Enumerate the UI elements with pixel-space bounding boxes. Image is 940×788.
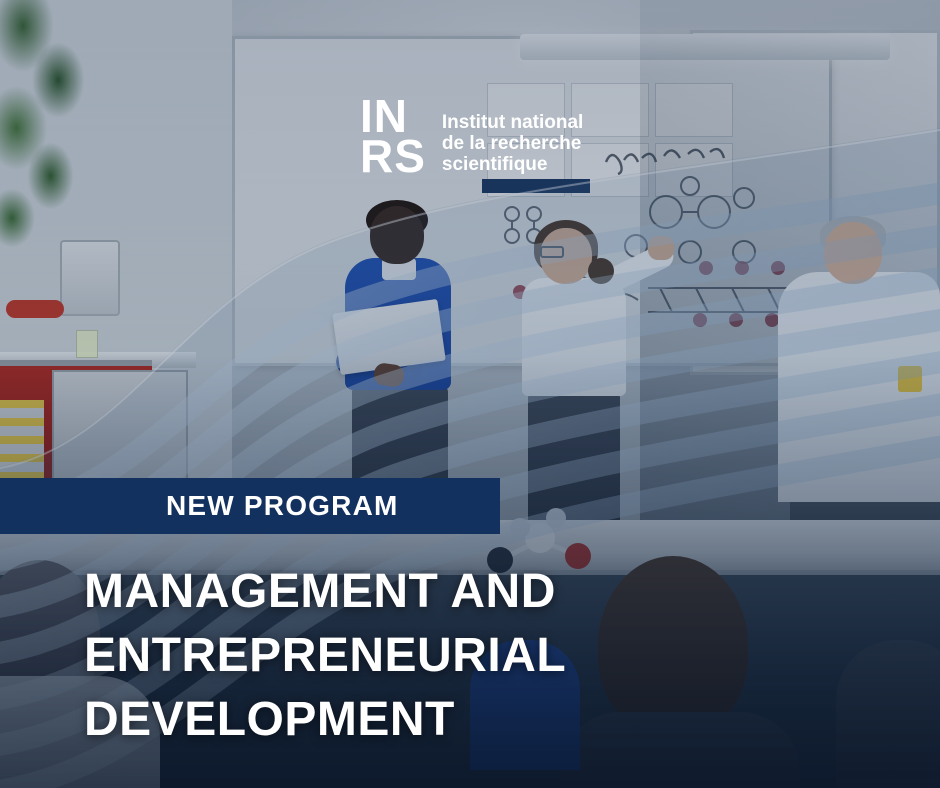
logo-wordmark-line3: scientifique [442,154,583,175]
poster: IN RS Institut national de la recherche … [0,0,940,788]
poster-title: MANAGEMENT AND ENTREPRENEURIAL DEVELOPME… [84,560,784,752]
new-program-badge-label: NEW PROGRAM [0,490,399,522]
logo-monogram-line2: RS [360,136,426,176]
poster-title-line1: MANAGEMENT AND [84,560,784,624]
logo-wordmark-line1: Institut national [442,112,583,133]
logo-wordmark: Institut national de la recherche scient… [442,96,583,175]
inrs-logo: IN RS Institut national de la recherche … [360,96,583,176]
poster-title-line2: ENTREPRENEURIAL [84,624,784,688]
poster-title-line3: DEVELOPMENT [84,688,784,752]
logo-wordmark-line2: de la recherche [442,133,583,154]
logo-monogram: IN RS [360,96,426,176]
new-program-badge: NEW PROGRAM [0,478,500,534]
